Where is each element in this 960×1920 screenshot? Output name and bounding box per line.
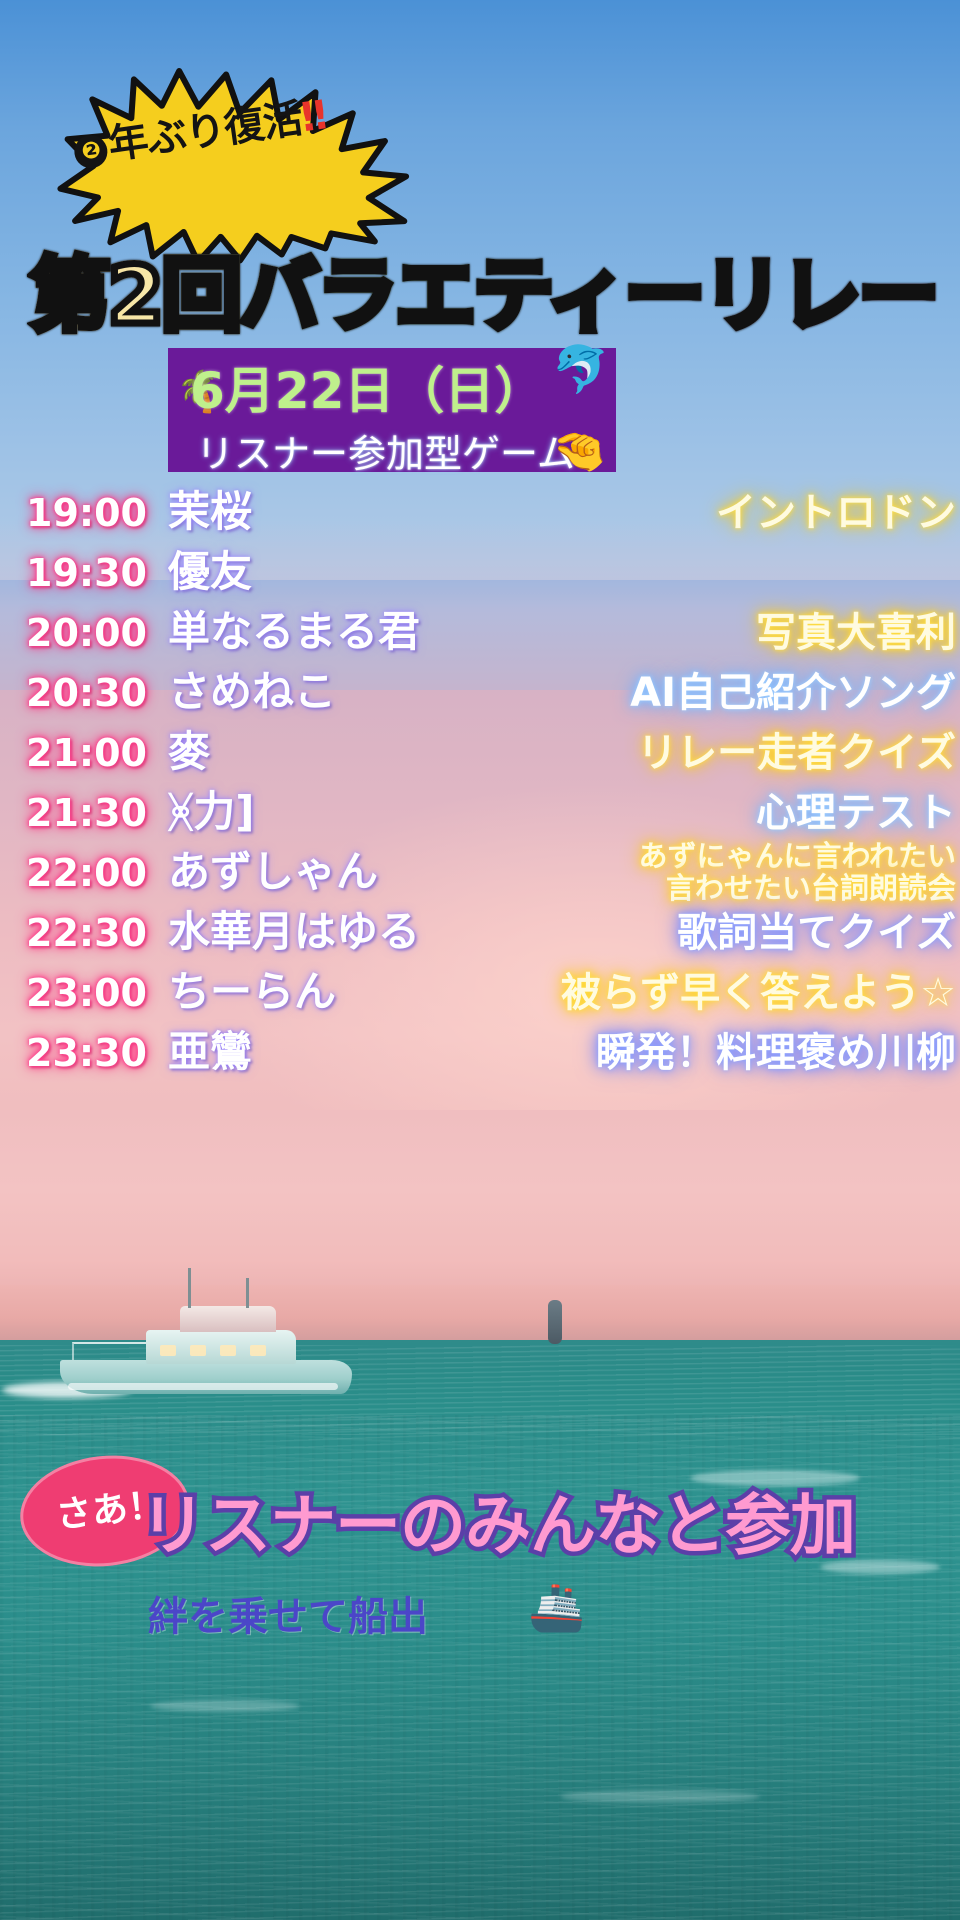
schedule-list: 19:00茉桜イントロドン19:30優友20:00単なるまる君写真大喜利20:3… (0, 484, 960, 1084)
schedule-row: 21:00麥リレー走者クイズ (0, 724, 960, 784)
page-title-text: 第2回バラエティーリレー (30, 249, 937, 342)
schedule-game-title: あずにゃんに言われたい 言わせたい台詞朗読会 (638, 840, 960, 906)
schedule-row: 22:30水華月はゆる歌詞当てクイズ (0, 904, 960, 964)
schedule-time: 19:30 (26, 544, 176, 604)
badge-circle-number: ❷ (72, 133, 109, 170)
schedule-time: 21:30 (26, 784, 176, 844)
schedule-row: 20:30さめねこAI自己紹介ソング (0, 664, 960, 724)
boat-rail (72, 1342, 148, 1360)
schedule-performer-name: 単なるまる君 (168, 602, 420, 664)
schedule-performer-name: ちーらん (168, 962, 336, 1024)
schedule-row: 19:00茉桜イントロドン (0, 484, 960, 544)
sunset-sea-lower (0, 1110, 960, 1310)
schedule-time: 23:30 (26, 1024, 176, 1084)
schedule-time: 22:00 (26, 844, 176, 904)
page-title: 第2回バラエティーリレー (30, 248, 960, 344)
schedule-game-title: リレー走者クイズ (637, 724, 960, 784)
schedule-row: 19:30優友 (0, 544, 960, 604)
boat-window (160, 1345, 176, 1356)
boat-window (190, 1345, 206, 1356)
schedule-time: 23:00 (26, 964, 176, 1024)
boat-hull-stripe (68, 1383, 338, 1390)
schedule-performer-name: 水華月はゆる (168, 902, 420, 964)
ship-icon: 🚢 (528, 1584, 585, 1630)
schedule-row: 20:00単なるまる君写真大喜利 (0, 604, 960, 664)
schedule-game-title: 心理テスト (756, 784, 960, 844)
schedule-game-title: イントロドン (716, 484, 960, 544)
boat (60, 1290, 360, 1400)
schedule-time: 20:00 (26, 604, 176, 664)
schedule-performer-name: さめねこ (168, 662, 336, 724)
schedule-row: 23:30亜鸞瞬発！料理褒め川柳 (0, 1024, 960, 1084)
schedule-game-title: 被らず早く答えよう☆ (561, 964, 960, 1024)
boat-mast (246, 1278, 249, 1308)
boat-window (220, 1345, 236, 1356)
schedule-performer-name: 茉桜 (168, 482, 252, 544)
schedule-game-title: AI自己紹介ソング (630, 664, 960, 724)
boat-window (250, 1345, 266, 1356)
schedule-game-title: 写真大喜利 (756, 604, 960, 664)
schedule-performer-name: 麥 (168, 722, 210, 784)
foam-patch (150, 1700, 300, 1712)
schedule-row: 21:30ᚸ力]心理テスト (0, 784, 960, 844)
schedule-performer-name: ᚸ力] (168, 782, 254, 844)
schedule-game-title: 瞬発！料理褒め川柳 (596, 1024, 960, 1084)
foam-patch (560, 1790, 760, 1803)
schedule-game-title: 歌詞当てクイズ (677, 904, 960, 964)
schedule-time: 20:30 (26, 664, 176, 724)
boat-upper-cabin (180, 1306, 276, 1332)
schedule-performer-name: 亜鸞 (168, 1022, 252, 1084)
hand-icon: 🤏 (552, 430, 607, 474)
boat-mast (188, 1268, 191, 1308)
schedule-row: 23:00ちーらん被らず早く答えよう☆ (0, 964, 960, 1024)
cta-headline: リスナーのみんなと参加 (140, 1480, 960, 1572)
event-date: 6月22日（日） (190, 360, 620, 422)
schedule-performer-name: あずしゃん (168, 842, 378, 904)
schedule-time: 22:30 (26, 904, 176, 964)
buoy (548, 1300, 562, 1344)
schedule-time: 19:00 (26, 484, 176, 544)
schedule-time: 21:00 (26, 724, 176, 784)
schedule-row: 22:00あずしゃんあずにゃんに言われたい 言わせたい台詞朗読会 (0, 844, 960, 904)
schedule-performer-name: 優友 (168, 542, 252, 604)
cta-subline: 絆を乗せて船出 (148, 1592, 748, 1642)
